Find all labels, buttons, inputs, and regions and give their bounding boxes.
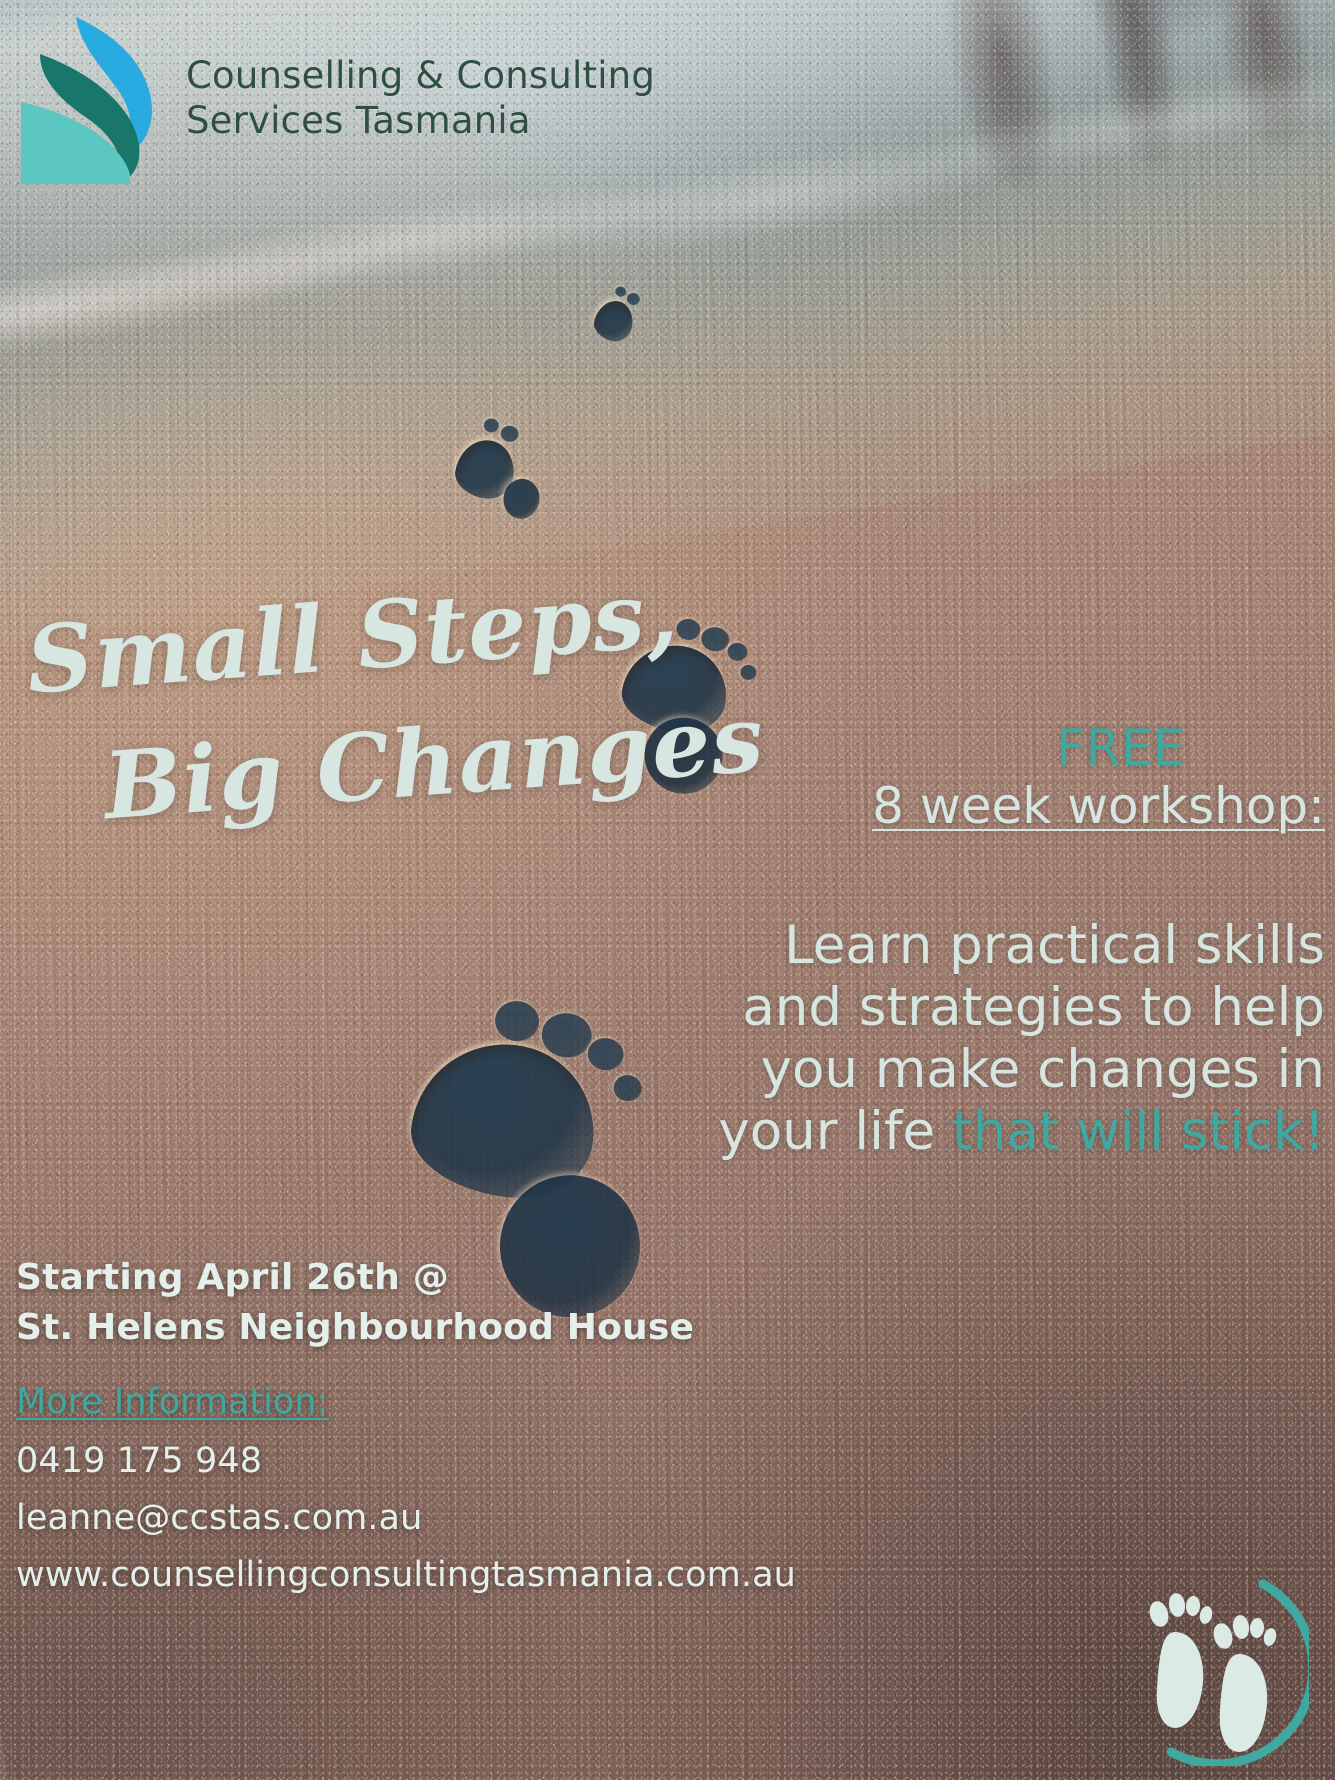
contact-email[interactable]: leanne@ccstas.com.au — [16, 1501, 796, 1536]
poster-canvas: Counselling & Consulting Services Tasman… — [0, 0, 1335, 1780]
contact-phone[interactable]: 0419 175 948 — [16, 1444, 796, 1479]
three-leaf-wave-logo-icon — [18, 12, 168, 184]
brand-wordmark: Counselling & Consulting Services Tasman… — [186, 53, 655, 143]
event-start-date: Starting April 26th @ — [16, 1253, 694, 1303]
brand-logo: Counselling & Consulting Services Tasman… — [18, 12, 655, 184]
contact-website[interactable]: www.counsellingconsultingtasmania.com.au — [16, 1558, 796, 1593]
footprints-in-circle-logo-icon — [1113, 1570, 1309, 1766]
workshop-label: 8 week workshop: — [685, 775, 1325, 837]
offer-block: FREE 8 week workshop: Learn practical sk… — [685, 722, 1325, 1163]
offer-blurb: Learn practical skills and strategies to… — [685, 915, 1325, 1163]
event-venue: St. Helens Neighbourhood House — [16, 1303, 694, 1353]
brand-name-line2: Services Tasmania — [186, 98, 655, 143]
poster-headline: Small Steps, Big Changes — [22, 543, 769, 857]
free-badge: FREE — [685, 722, 1325, 775]
more-information-heading: More Information: — [16, 1385, 328, 1420]
footprint-far-2 — [441, 411, 550, 531]
blurb-accent: that will stick! — [952, 1101, 1325, 1162]
event-details: Starting April 26th @ St. Helens Neighbo… — [16, 1253, 694, 1352]
contact-block: More Information: 0419 175 948 leanne@cc… — [16, 1385, 796, 1615]
brand-name-line1: Counselling & Consulting — [186, 53, 655, 98]
